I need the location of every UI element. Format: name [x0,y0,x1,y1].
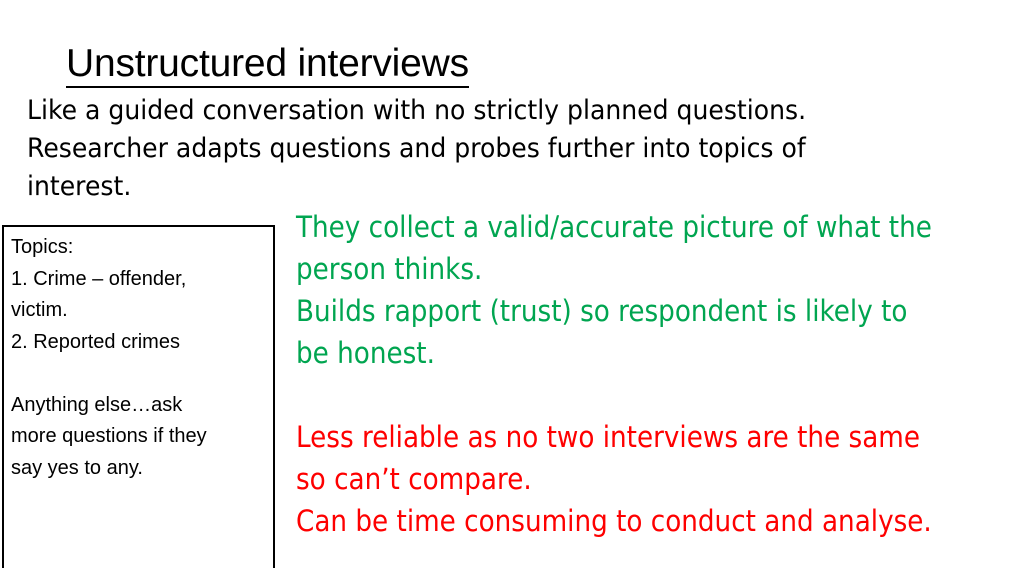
topics-line: victim. [11,295,273,327]
topics-line: more questions if they [11,421,273,453]
intro-line: Like a guided conversation with no stric… [27,92,875,130]
strengths-block: They collect a valid/accurate picture of… [296,206,966,374]
page-title-text: Unstructured interviews [66,42,469,88]
page-title: Unstructured interviews [66,40,469,88]
intro-paragraph: Like a guided conversation with no stric… [27,92,875,206]
weaknesses-block: Less reliable as no two interviews are t… [296,416,966,542]
weaknesses-line: so can’t compare. [296,458,966,500]
topics-line: Topics: [11,232,273,264]
topics-line: say yes to any. [11,453,273,485]
weaknesses-line: Less reliable as no two interviews are t… [296,416,966,458]
evaluation-column: They collect a valid/accurate picture of… [296,206,1036,542]
topics-line-spacer [11,358,273,390]
intro-line: Researcher adapts questions and probes f… [27,130,875,168]
strengths-line: They collect a valid/accurate picture of… [296,206,966,248]
strengths-line: be honest. [296,332,966,374]
topics-box: Topics: 1. Crime – offender, victim. 2. … [2,225,275,568]
weaknesses-line: Can be time consuming to conduct and ana… [296,500,966,542]
intro-line: interest. [27,168,875,206]
topics-line: 2. Reported crimes [11,327,273,359]
slide-canvas: Unstructured interviews Like a guided co… [0,0,1036,568]
topics-list: Topics: 1. Crime – offender, victim. 2. … [11,232,273,484]
topics-line: Anything else…ask [11,390,273,422]
topics-line: 1. Crime – offender, [11,264,273,296]
strengths-line: person thinks. [296,248,966,290]
strengths-line: Builds rapport (trust) so respondent is … [296,290,966,332]
